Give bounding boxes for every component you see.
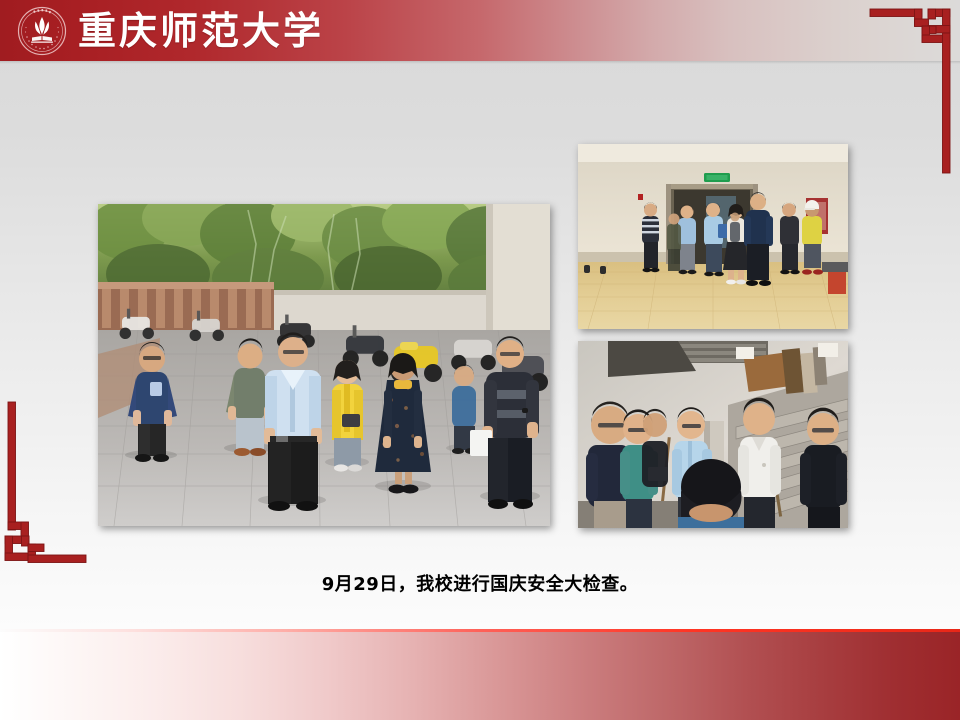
header-shadow	[0, 61, 960, 64]
stairwell-inspection-photo	[578, 341, 848, 528]
footer-band	[0, 632, 960, 720]
indoor-hall-inspection-image	[578, 144, 848, 329]
slide-root: 重庆师范大学	[0, 0, 960, 720]
university-seal-icon	[17, 6, 67, 56]
stairwell-inspection-image	[578, 341, 848, 528]
courtyard-inspection-photo	[98, 204, 550, 526]
page-title: 重庆师范大学	[78, 7, 324, 55]
slide-caption: 9月29日，我校进行国庆安全大检查。	[0, 570, 960, 596]
indoor-hall-inspection-photo	[578, 144, 848, 329]
top-right-corner-ornament-icon	[852, 0, 958, 176]
courtyard-inspection-image	[98, 204, 550, 526]
